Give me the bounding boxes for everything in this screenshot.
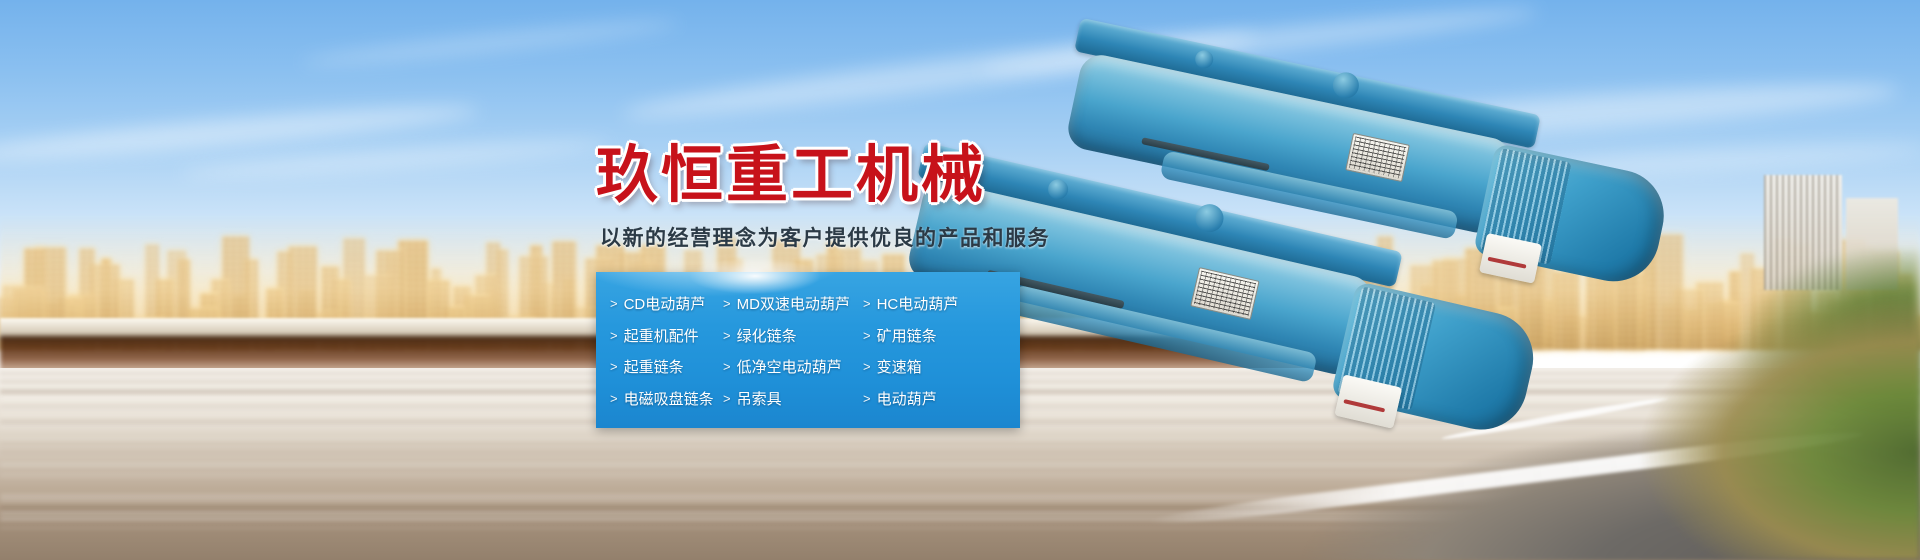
chevron-right-icon: > [863, 296, 871, 311]
product-category-label: 起重机配件 [624, 325, 699, 346]
product-category-link[interactable]: >低净空电动葫芦 [723, 356, 863, 377]
product-category-link[interactable]: >MD双速电动葫芦 [723, 293, 863, 314]
chevron-right-icon: > [863, 328, 871, 343]
chevron-right-icon: > [723, 391, 731, 406]
chevron-right-icon: > [610, 328, 618, 343]
product-category-link[interactable]: >起重机配件 [610, 325, 723, 346]
chevron-right-icon: > [723, 296, 731, 311]
product-category-link[interactable]: >矿用链条 [863, 325, 1020, 346]
product-category-label: 变速箱 [877, 356, 922, 377]
product-category-link[interactable]: >变速箱 [863, 356, 1020, 377]
chevron-right-icon: > [863, 359, 871, 374]
product-category-label: 电磁吸盘链条 [624, 388, 714, 409]
chevron-right-icon: > [723, 328, 731, 343]
product-category-link[interactable]: >CD电动葫芦 [610, 293, 723, 314]
product-category-label: 吊索具 [737, 388, 782, 409]
product-category-label: 起重链条 [624, 356, 684, 377]
product-category-label: CD电动葫芦 [624, 293, 706, 314]
hero-banner: 玖恒重工机械 以新的经营理念为客户提供优良的产品和服务 >CD电动葫芦>MD双速… [0, 0, 1920, 560]
product-category-label: MD双速电动葫芦 [737, 293, 850, 314]
chevron-right-icon: > [723, 359, 731, 374]
product-category-link[interactable]: >绿化链条 [723, 325, 863, 346]
product-category-label: 低净空电动葫芦 [737, 356, 842, 377]
product-category-link[interactable]: >电磁吸盘链条 [610, 388, 723, 409]
product-category-label: 矿用链条 [877, 325, 937, 346]
chevron-right-icon: > [610, 391, 618, 406]
product-category-link[interactable]: >HC电动葫芦 [863, 293, 1020, 314]
product-category-label: HC电动葫芦 [877, 293, 959, 314]
product-category-label: 绿化链条 [737, 325, 797, 346]
page-title: 玖恒重工机械 [596, 124, 986, 214]
product-category-label: 电动葫芦 [877, 388, 937, 409]
chevron-right-icon: > [610, 296, 618, 311]
product-category-panel: >CD电动葫芦>MD双速电动葫芦>HC电动葫芦>起重机配件>绿化链条>矿用链条>… [596, 272, 1020, 428]
chevron-right-icon: > [610, 359, 618, 374]
product-category-link[interactable]: >吊索具 [723, 388, 863, 409]
chevron-right-icon: > [863, 391, 871, 406]
cloud-wisp [300, 15, 680, 71]
product-category-link[interactable]: >电动葫芦 [863, 388, 1020, 409]
product-category-grid: >CD电动葫芦>MD双速电动葫芦>HC电动葫芦>起重机配件>绿化链条>矿用链条>… [596, 272, 1020, 428]
product-category-link[interactable]: >起重链条 [610, 356, 723, 377]
page-subtitle: 以新的经营理念为客户提供优良的产品和服务 [600, 222, 1050, 252]
